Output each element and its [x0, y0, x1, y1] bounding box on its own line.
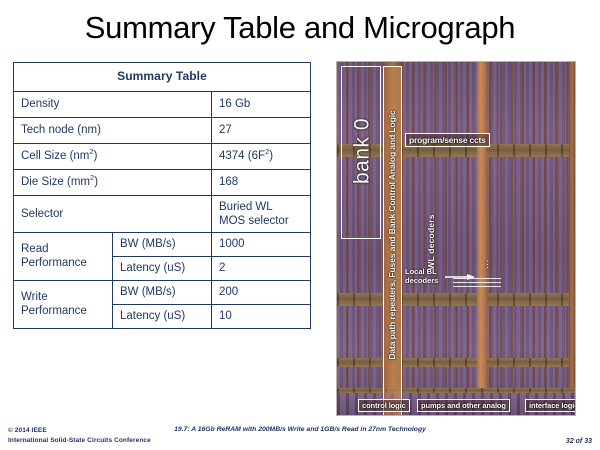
page-title: Summary Table and Micrograph — [0, 10, 600, 46]
peripheral-divider — [337, 388, 575, 393]
control-logic-label: control logic — [358, 399, 410, 412]
cell-size-label-close: ) — [94, 150, 98, 162]
die-size-value: 168 — [212, 169, 311, 195]
die-size-label-close: ) — [94, 176, 98, 188]
sense-amp-stripe-lower — [337, 358, 575, 367]
summary-table-title: Summary Table — [14, 63, 311, 92]
selector-value-line1: Buried WL — [219, 200, 303, 214]
cell-size-label: Cell Size (nm2) — [14, 143, 212, 169]
write-bw-value: 200 — [212, 280, 311, 304]
read-bw-value: 1000 — [212, 232, 311, 256]
table-row-density: Density 16 Gb — [14, 91, 311, 117]
density-value: 16 Gb — [212, 91, 311, 117]
bank0-label: bank 0 — [351, 79, 375, 224]
tech-node-label: Tech node (nm) — [14, 117, 212, 143]
die-size-label: Die Size (mm2) — [14, 169, 212, 195]
interface-logic-label: interface logic — [525, 399, 576, 412]
bl-decoder-lines — [453, 278, 501, 288]
program-sense-ccts-label: program/sense ccts — [405, 133, 490, 147]
read-latency-value: 2 — [212, 256, 311, 280]
read-latency-label: Latency (uS) — [113, 256, 212, 280]
selector-value: Buried WL MOS selector — [212, 195, 311, 232]
read-performance-label: Read Performance — [14, 232, 113, 280]
bank0-highlight-box: bank 0 — [341, 66, 381, 239]
selector-label: Selector — [14, 195, 212, 232]
cell-size-value-text: 4374 (6F — [219, 150, 265, 162]
datapath-label: Data path repeaters, Fuses and Bank Cont… — [387, 70, 397, 400]
datapath-highlight-strip: Data path repeaters, Fuses and Bank Cont… — [383, 66, 402, 416]
write-latency-label: Latency (uS) — [113, 304, 212, 328]
table-row-selector: Selector Buried WL MOS selector — [14, 195, 311, 232]
cell-size-value: 4374 (6F2) — [212, 143, 311, 169]
summary-table: Summary Table Density 16 Gb Tech node (n… — [13, 62, 311, 329]
write-latency-value: 10 — [212, 304, 311, 328]
vertical-ellipsis-icon: ⋮ — [483, 262, 492, 267]
table-header-row: Summary Table — [14, 63, 311, 92]
page-number: 32 of 33 — [566, 438, 592, 445]
power-column-center — [477, 62, 487, 415]
density-label: Density — [14, 91, 212, 117]
copyright-line-2: International Solid-State Circuits Confe… — [8, 436, 151, 446]
pumps-and-analog-label: pumps and other analog — [417, 399, 510, 412]
cell-size-value-close: ) — [269, 150, 273, 162]
write-performance-label: Write Performance — [14, 280, 113, 328]
cell-size-label-text: Cell Size (nm — [21, 150, 89, 162]
slide-footer: © 2014 IEEE International Solid-State Ci… — [0, 424, 600, 450]
table-row-tech-node: Tech node (nm) 27 — [14, 117, 311, 143]
die-size-label-text: Die Size (mm — [21, 176, 90, 188]
table-row-read-bw: Read Performance BW (MB/s) 1000 — [14, 232, 311, 256]
read-bw-label: BW (MB/s) — [113, 232, 212, 256]
selector-value-line2: MOS selector — [219, 214, 303, 228]
sense-amp-stripe-middle — [337, 293, 575, 306]
table-row-cell-size: Cell Size (nm2) 4374 (6F2) — [14, 143, 311, 169]
write-bw-label: BW (MB/s) — [113, 280, 212, 304]
paper-reference: 19.7: A 16Gb ReRAM with 200MB/s Write an… — [0, 426, 600, 433]
table-row-write-bw: Write Performance BW (MB/s) 200 — [14, 280, 311, 304]
die-micrograph-image: bank 0 Data path repeaters, Fuses and Ba… — [336, 61, 576, 416]
tech-node-value: 27 — [212, 117, 311, 143]
power-column-right — [569, 62, 575, 415]
table-row-die-size: Die Size (mm2) 168 — [14, 169, 311, 195]
